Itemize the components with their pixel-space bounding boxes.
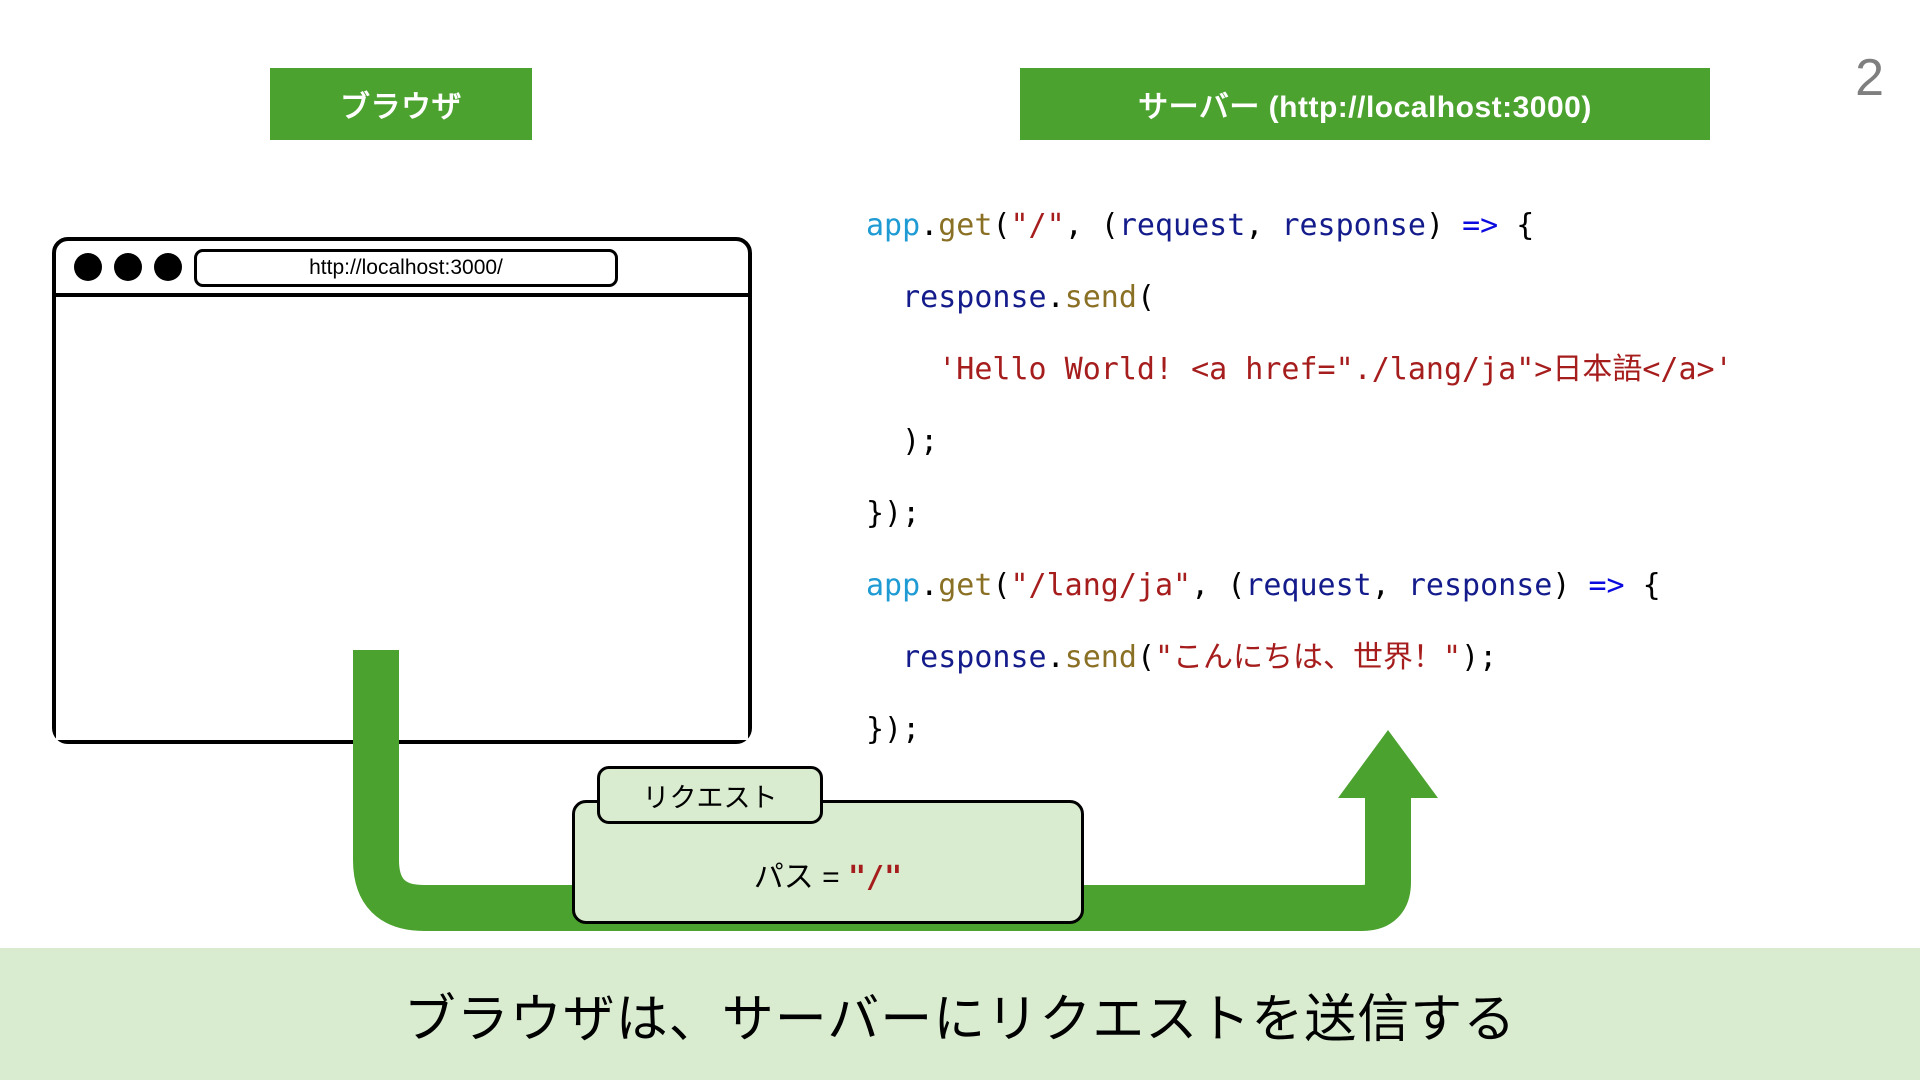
- code-token-obj: app: [866, 208, 920, 243]
- caption-text: ブラウザは、サーバーにリクエストを送信する: [404, 977, 1516, 1052]
- code-token-punc: {: [1625, 568, 1661, 603]
- code-token-arrow: =>: [1589, 568, 1625, 603]
- code-token-punc: );: [1461, 640, 1497, 675]
- server-header-chip: サーバー (http://localhost:3000): [1020, 68, 1710, 140]
- code-token-fn: get: [938, 208, 992, 243]
- code-token-punc: (: [1137, 640, 1155, 675]
- code-token-obj: app: [866, 568, 920, 603]
- code-token-var: request: [1245, 568, 1371, 603]
- server-header-label: サーバー (http://localhost:3000): [1138, 82, 1592, 126]
- code-token-var: response: [902, 280, 1047, 315]
- code-token-var: request: [1119, 208, 1245, 243]
- page-number: 2: [1855, 52, 1884, 104]
- code-token-punc: });: [866, 496, 920, 531]
- code-token-punc: [866, 352, 938, 387]
- code-token-var: response: [902, 640, 1047, 675]
- code-token-fn: send: [1065, 280, 1137, 315]
- code-token-punc: ,: [1245, 208, 1281, 243]
- request-path-label: パス =: [754, 861, 848, 894]
- code-token-punc: .: [920, 208, 938, 243]
- browser-header-chip: ブラウザ: [270, 68, 532, 140]
- code-line: app.get("/", (request, response) => {: [866, 190, 1886, 262]
- code-token-arrow: =>: [1462, 208, 1498, 243]
- code-token-fn: send: [1065, 640, 1137, 675]
- code-token-fn: get: [938, 568, 992, 603]
- code-token-str: "/lang/ja": [1011, 568, 1192, 603]
- code-token-str: "こんにちは、世界！": [1155, 640, 1461, 675]
- code-line: 'Hello World! <a href="./lang/ja">日本語</a…: [866, 334, 1886, 406]
- code-token-punc: (: [992, 208, 1010, 243]
- code-token-punc: {: [1498, 208, 1534, 243]
- code-token-punc: .: [920, 568, 938, 603]
- request-callout-tab: リクエスト: [597, 766, 823, 824]
- browser-header-label: ブラウザ: [340, 82, 462, 126]
- code-token-punc: .: [1047, 640, 1065, 675]
- browser-viewport: [56, 297, 748, 740]
- code-token-punc: (: [1137, 280, 1155, 315]
- window-dot-icon-2: [114, 253, 142, 281]
- code-line: app.get("/lang/ja", (request, response) …: [866, 550, 1886, 622]
- code-line: );: [866, 406, 1886, 478]
- window-control-dots: [74, 253, 182, 281]
- code-token-punc: );: [866, 424, 938, 459]
- browser-chrome-bar: http://localhost:3000/: [56, 241, 748, 297]
- code-line: });: [866, 478, 1886, 550]
- code-token-var: response: [1281, 208, 1426, 243]
- slide-root: 2 ブラウザ サーバー (http://localhost:3000) http…: [0, 0, 1920, 1080]
- code-token-punc: , (: [1191, 568, 1245, 603]
- browser-window-mockup: http://localhost:3000/: [52, 237, 752, 744]
- request-callout-tab-label: リクエスト: [643, 776, 778, 815]
- request-path-value: "/": [848, 860, 902, 895]
- code-token-var: response: [1408, 568, 1553, 603]
- code-token-str: "/": [1011, 208, 1065, 243]
- code-token-punc: ,: [1372, 568, 1408, 603]
- window-dot-icon-1: [74, 253, 102, 281]
- address-bar[interactable]: http://localhost:3000/: [194, 249, 618, 287]
- code-token-punc: .: [1047, 280, 1065, 315]
- server-code-block: app.get("/", (request, response) => { re…: [866, 190, 1886, 766]
- address-bar-url: http://localhost:3000/: [309, 256, 503, 280]
- code-token-punc: (: [992, 568, 1010, 603]
- code-line: response.send(: [866, 262, 1886, 334]
- window-dot-icon-3: [154, 253, 182, 281]
- code-token-punc: ): [1552, 568, 1588, 603]
- code-token-str: 'Hello World! <a href="./lang/ja">日本語</a…: [938, 352, 1732, 387]
- request-callout-body: パス = "/": [754, 852, 902, 896]
- code-token-punc: ): [1426, 208, 1462, 243]
- arrow-head-icon: [1338, 730, 1438, 798]
- caption-band: ブラウザは、サーバーにリクエストを送信する: [0, 948, 1920, 1080]
- code-line: response.send("こんにちは、世界！");: [866, 622, 1886, 694]
- code-token-punc: , (: [1065, 208, 1119, 243]
- code-token-punc: [866, 280, 902, 315]
- code-token-punc: [866, 640, 902, 675]
